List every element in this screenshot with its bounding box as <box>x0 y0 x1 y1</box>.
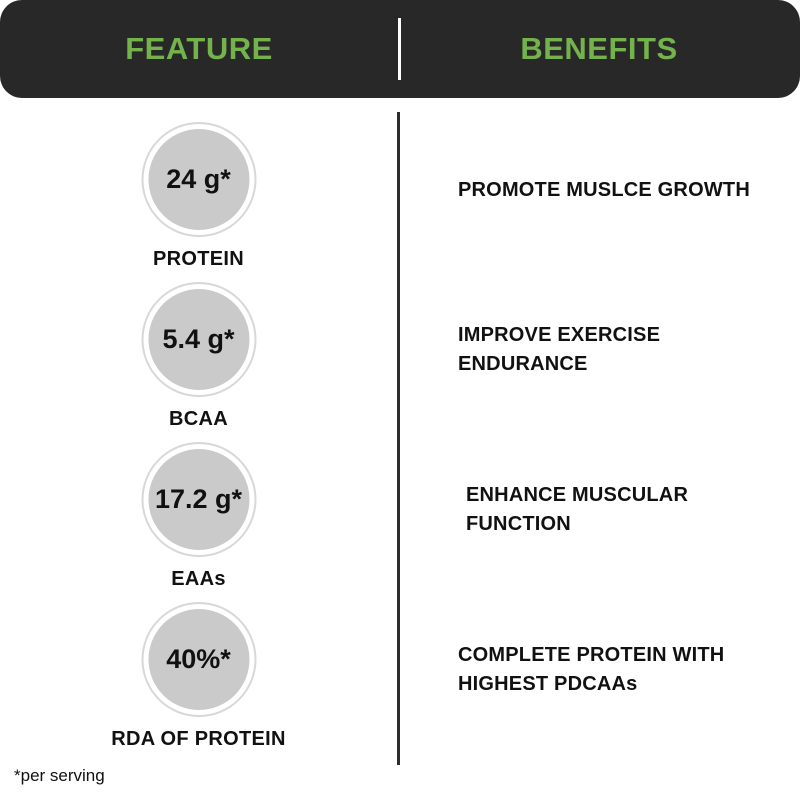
feature-circle-inner: 40%* <box>148 609 249 710</box>
header-cell-feature: FEATURE <box>0 0 398 98</box>
feature-value: 5.4 g* <box>162 324 234 355</box>
feature-label: PROTEIN <box>0 248 397 271</box>
benefit-text: ENHANCE MUSCULAR FUNCTION <box>466 481 782 539</box>
feature-column-title: FEATURE <box>125 31 273 67</box>
feature-row: 17.2 g* EAAs <box>0 430 397 590</box>
feature-value: 17.2 g* <box>155 484 242 515</box>
feature-circle: 17.2 g* <box>141 442 256 557</box>
benefit-text: PROMOTE MUSLCE GROWTH <box>458 176 750 205</box>
benefit-text: IMPROVE EXERCISE ENDURANCE <box>458 321 782 379</box>
footnote: *per serving <box>14 766 105 786</box>
benefit-text: COMPLETE PROTEIN WITH HIGHEST PDCAAs <box>458 641 782 699</box>
feature-circle: 5.4 g* <box>141 282 256 397</box>
benefit-row: IMPROVE EXERCISE ENDURANCE <box>400 270 800 430</box>
feature-row: 40%* RDA OF PROTEIN <box>0 590 397 750</box>
feature-circle: 40%* <box>141 602 256 717</box>
benefits-column: PROMOTE MUSLCE GROWTH IMPROVE EXERCISE E… <box>400 110 800 750</box>
benefit-row: PROMOTE MUSLCE GROWTH <box>400 110 800 270</box>
feature-label: EAAs <box>0 568 397 591</box>
benefits-column-title: BENEFITS <box>520 31 677 67</box>
feature-value: 24 g* <box>166 164 231 195</box>
feature-circle-inner: 24 g* <box>148 129 249 230</box>
header-cell-benefits: BENEFITS <box>398 0 800 98</box>
feature-circle-inner: 17.2 g* <box>148 449 249 550</box>
feature-column: 24 g* PROTEIN 5.4 g* BCAA 17.2 g* EAAs 4… <box>0 110 397 750</box>
feature-row: 5.4 g* BCAA <box>0 270 397 430</box>
header-vertical-divider <box>398 18 401 80</box>
feature-row: 24 g* PROTEIN <box>0 110 397 270</box>
feature-value: 40%* <box>166 644 231 675</box>
header-bar: FEATURE BENEFITS <box>0 0 800 98</box>
feature-label: BCAA <box>0 408 397 431</box>
benefit-row: ENHANCE MUSCULAR FUNCTION <box>400 430 800 590</box>
benefit-row: COMPLETE PROTEIN WITH HIGHEST PDCAAs <box>400 590 800 750</box>
feature-label: RDA OF PROTEIN <box>0 728 397 751</box>
feature-circle-inner: 5.4 g* <box>148 289 249 390</box>
feature-circle: 24 g* <box>141 122 256 237</box>
